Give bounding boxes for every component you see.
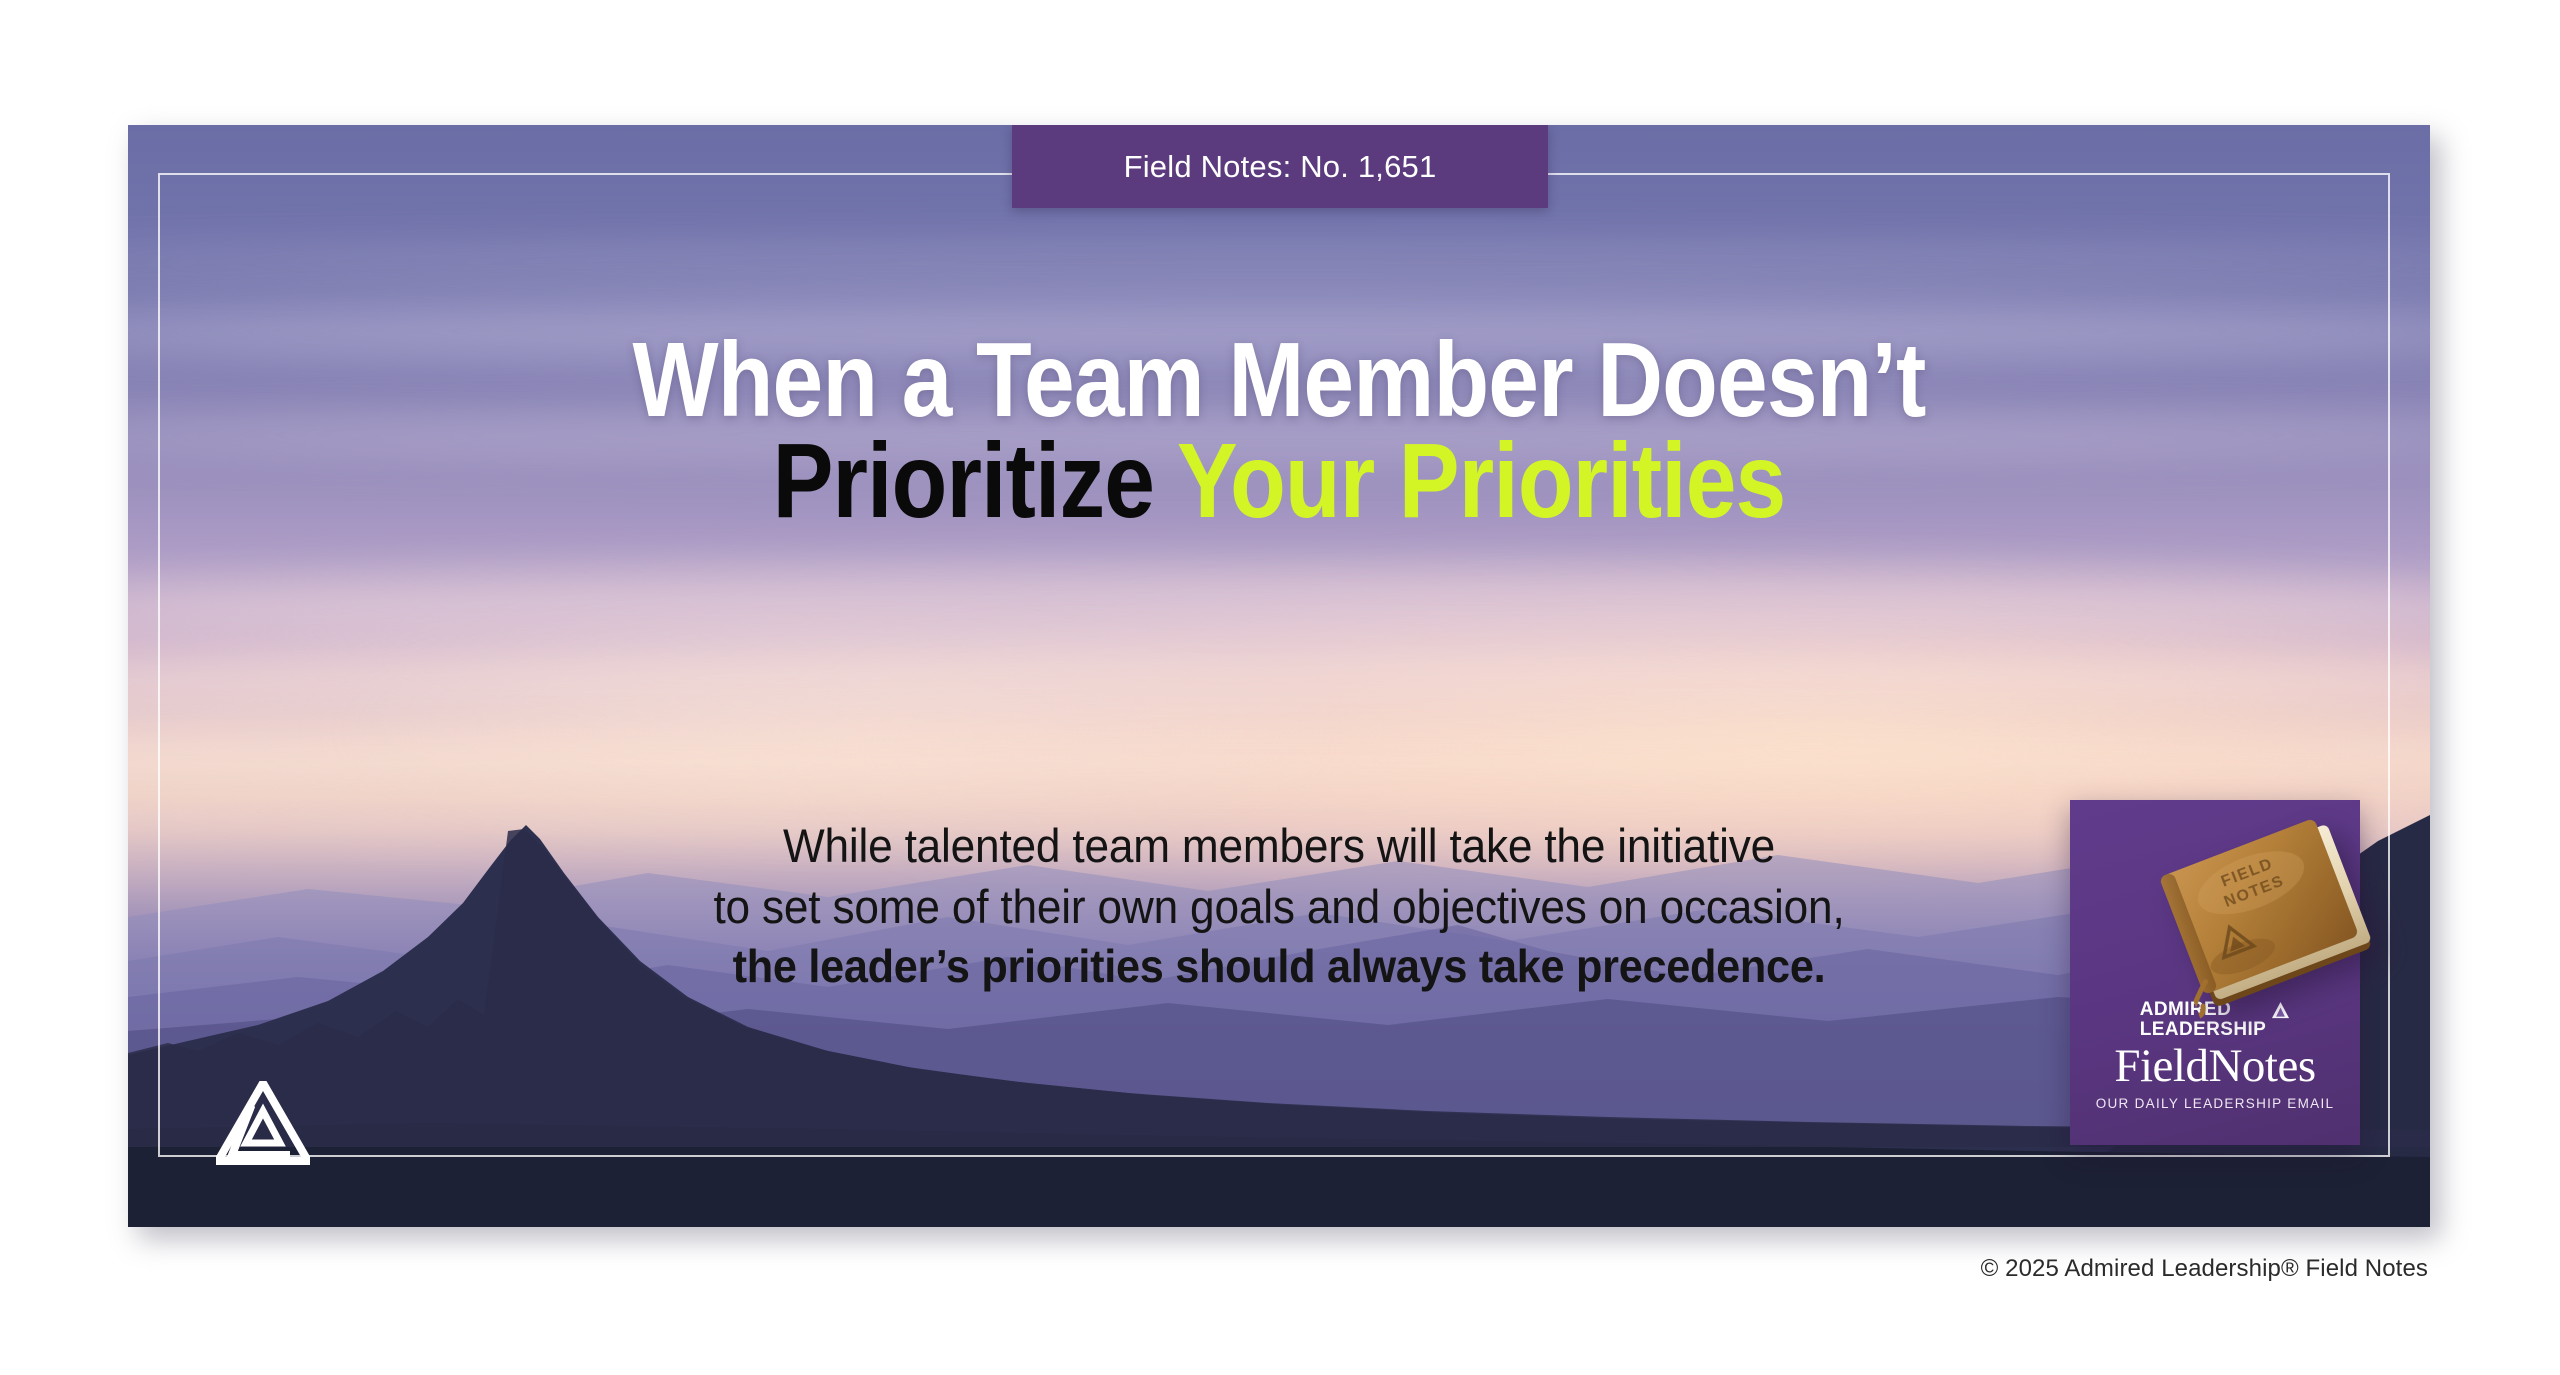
body-line-3-bold: the leader’s priorities should always ta… [197,937,2361,997]
body-line-1: While talented team members will take th… [197,815,2361,876]
promo-tagline: OUR DAILY LEADERSHIP EMAIL [2070,1096,2360,1111]
body-line-2: to set some of their own goals and objec… [197,876,2361,937]
fieldnotes-part-notes: Notes [2208,1040,2315,1092]
hero-image: Field Notes: No. 1,651 When a Team Membe… [128,125,2430,1227]
copyright-notice: © 2025 Admired Leadership® Field Notes [1981,1255,2428,1283]
admired-leadership-logo-icon [216,1081,310,1165]
fieldnotes-part-field: Field [2114,1040,2208,1092]
headline-word-prioritize: Prioritize [773,422,1154,540]
headline-line-2: Prioritize Your Priorities [289,431,2269,532]
headline: When a Team Member Doesn’t Prioritize Yo… [128,330,2430,531]
headline-line-1: When a Team Member Doesn’t [289,330,2269,431]
headline-phrase-your-priorities: Your Priorities [1154,422,1785,540]
issue-number-label: Field Notes: No. 1,651 [1124,149,1437,185]
issue-number-badge: Field Notes: No. 1,651 [1012,125,1548,208]
page-root: Field Notes: No. 1,651 When a Team Membe… [0,0,2560,1375]
fieldnotes-wordmark: FieldNotes [2070,1043,2360,1091]
